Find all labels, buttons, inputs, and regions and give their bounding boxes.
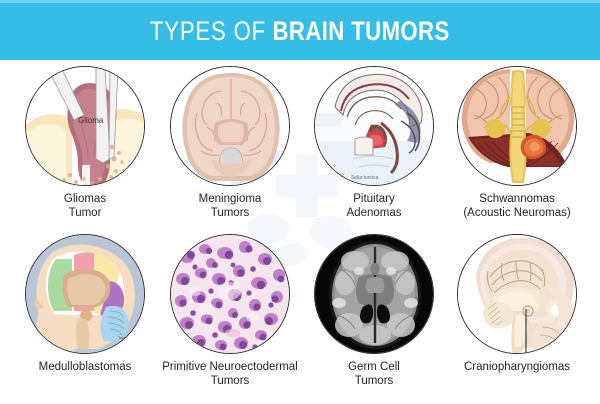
tumor-label-pnet: Primitive Neuroectodermal Tumors bbox=[155, 360, 305, 388]
sagittal-head-brain-illustration bbox=[457, 234, 577, 354]
art-label-glioma: Glioma bbox=[78, 116, 104, 125]
tumor-item-pituitary[interactable]: Sella turcica Pituitary Adenomas bbox=[299, 66, 449, 220]
page-title-light: TYPES OF bbox=[150, 16, 266, 46]
tumor-item-germ-cell[interactable]: Germ Cell Tumors bbox=[299, 234, 449, 388]
inferior-brain-cranial-nerves-illustration bbox=[457, 66, 577, 186]
tumor-type-grid: Glioma Gliomas Tumor bbox=[0, 60, 600, 404]
tumor-label-germ-cell: Germ Cell Tumors bbox=[299, 360, 449, 388]
tumor-item-gliomas[interactable]: Glioma Gliomas Tumor bbox=[10, 66, 160, 220]
page-title: TYPES OF BRAIN TUMORS bbox=[150, 16, 450, 47]
tumor-label-pituitary: Pituitary Adenomas bbox=[299, 192, 449, 220]
label-line: Tumor bbox=[10, 206, 160, 220]
tumor-label-craniopharyngiomas: Craniopharyngiomas bbox=[442, 360, 592, 374]
tumor-label-schwannomas: Schwannomas (Acoustic Neuromas) bbox=[442, 192, 592, 220]
tumor-item-schwannomas[interactable]: Schwannomas (Acoustic Neuromas) bbox=[442, 66, 592, 220]
art-label-sella-turcica: Sella turcica bbox=[351, 175, 378, 181]
tumor-item-pnet[interactable]: Primitive Neuroectodermal Tumors bbox=[155, 234, 305, 388]
axial-mri-scan bbox=[314, 234, 434, 354]
art-label-tumor: Tumor bbox=[118, 335, 130, 340]
label-line: Tumors bbox=[299, 374, 449, 388]
label-line: Medulloblastomas bbox=[10, 360, 160, 374]
label-line: Primitive Neuroectodermal bbox=[155, 360, 305, 374]
histology-micrograph bbox=[170, 234, 290, 354]
lateral-head-brain-lobes-diagram: Tumor bbox=[25, 234, 145, 354]
coronal-brain-section-illustration bbox=[170, 66, 290, 186]
header-banner: TYPES OF BRAIN TUMORS bbox=[0, 3, 600, 60]
label-line: Pituitary bbox=[299, 192, 449, 206]
label-line: Craniopharyngiomas bbox=[442, 360, 592, 374]
label-line: (Acoustic Neuromas) bbox=[442, 206, 592, 220]
page-title-bold: BRAIN TUMORS bbox=[273, 16, 450, 46]
label-line: Schwannomas bbox=[442, 192, 592, 206]
glioma-illustration: Glioma bbox=[25, 66, 145, 186]
tumor-item-meningioma[interactable]: Meningioma Tumors bbox=[155, 66, 305, 220]
sagittal-pituitary-illustration: Sella turcica bbox=[314, 66, 434, 186]
tumor-label-medulloblastomas: Medulloblastomas bbox=[10, 360, 160, 374]
tumor-label-gliomas: Gliomas Tumor bbox=[10, 192, 160, 220]
tumor-label-meningioma: Meningioma Tumors bbox=[155, 192, 305, 220]
label-line: Gliomas bbox=[10, 192, 160, 206]
label-line: Germ Cell bbox=[299, 360, 449, 374]
label-line: Meningioma bbox=[155, 192, 305, 206]
label-line: Tumors bbox=[155, 206, 305, 220]
tumor-item-craniopharyngiomas[interactable]: Craniopharyngiomas bbox=[442, 234, 592, 374]
tumor-item-medulloblastomas[interactable]: Tumor Medulloblastomas bbox=[10, 234, 160, 374]
label-line: Tumors bbox=[155, 374, 305, 388]
label-line: Adenomas bbox=[299, 206, 449, 220]
